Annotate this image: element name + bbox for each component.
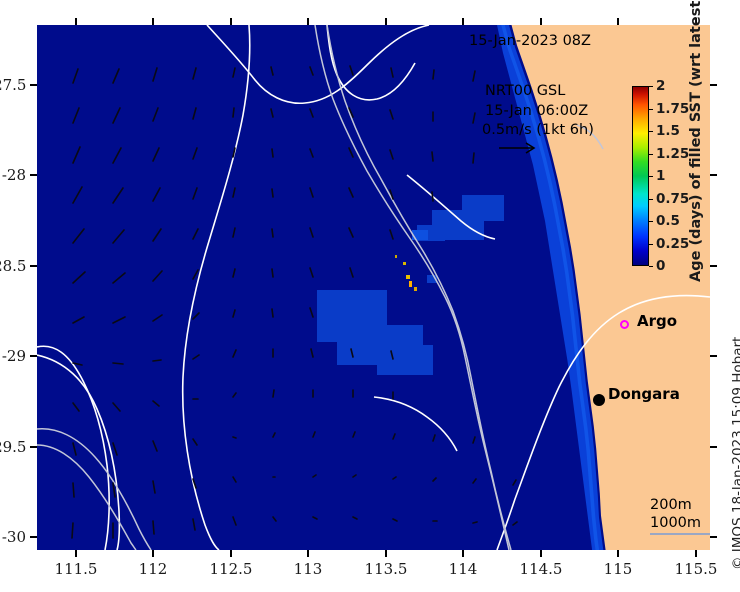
map-plot-area[interactable]: Argo Dongara 15-Jan-2023 08Z NRT00 GSL 1…	[37, 25, 710, 550]
xtick-label: 113	[294, 560, 323, 578]
current-annotation-line1: NRT00 GSL	[485, 82, 565, 101]
xtick-top	[152, 18, 154, 25]
colorbar-tick	[649, 266, 653, 267]
colorbar[interactable]: 2 1.75 1.5 1.25 1 0.75 0.5 0.25 0	[632, 86, 649, 266]
ytick-label: -29	[0, 347, 26, 365]
colorbar-tick-label: 0	[656, 258, 665, 274]
colorbar-title: Age (days) of filled SST (wrt latest)	[688, 0, 704, 282]
xtick-label: 114.5	[520, 560, 563, 578]
colorbar-tick-label: 0.25	[656, 236, 689, 252]
ytick-right	[710, 84, 717, 86]
xtick-bottom	[75, 550, 77, 557]
dongara-label: Dongara	[608, 385, 680, 403]
xtick-label: 112	[139, 560, 168, 578]
depth-deep-label: 1000m	[650, 514, 710, 532]
xtick-bottom	[540, 550, 542, 557]
xtick-bottom	[695, 550, 697, 557]
depth-shallow-label: 200m	[650, 496, 710, 514]
colorbar-tick-label: 0.5	[656, 213, 680, 229]
ytick-label: -28.5	[0, 257, 26, 275]
ytick-left	[30, 84, 37, 86]
ytick-right	[710, 446, 717, 448]
xtick-bottom	[230, 550, 232, 557]
colorbar-tick	[649, 199, 653, 200]
xtick-label: 115	[604, 560, 633, 578]
xtick-label: 112.5	[210, 560, 253, 578]
ytick-left	[30, 174, 37, 176]
credit-text: © IMOS 18-Jan-2023 15:09 Hobart	[730, 337, 740, 570]
current-annotation-line2: 15-Jan 06:00Z	[485, 102, 588, 121]
xtick-top	[385, 18, 387, 25]
xtick-bottom	[385, 550, 387, 557]
xtick-bottom	[617, 550, 619, 557]
ytick-left	[30, 536, 37, 538]
map-timestamp: 15-Jan-2023 08Z	[469, 32, 591, 51]
colorbar-tick-label: 1.25	[656, 146, 689, 162]
ytick-left	[30, 446, 37, 448]
xtick-top	[75, 18, 77, 25]
dongara-town-marker[interactable]	[593, 394, 605, 406]
ytick-right	[710, 174, 717, 176]
depth-scale-legend: 200m 1000m	[650, 496, 710, 535]
current-vector-field	[72, 66, 517, 538]
colorbar-tick	[649, 109, 653, 110]
ytick-left	[30, 355, 37, 357]
sst-contour-lines	[37, 25, 710, 550]
colorbar-tick-label: 2	[656, 78, 665, 94]
argo-float-marker[interactable]	[620, 320, 629, 329]
current-reference-arrow	[497, 141, 541, 155]
xtick-top	[540, 18, 542, 25]
xtick-label: 114	[449, 560, 478, 578]
xtick-bottom	[307, 550, 309, 557]
xtick-top	[462, 18, 464, 25]
depth-scale-rule	[650, 533, 710, 535]
overlay-contours	[37, 25, 710, 550]
xtick-top	[230, 18, 232, 25]
colorbar-tick-label: 1.75	[656, 101, 689, 117]
ytick-right	[710, 536, 717, 538]
colorbar-tick	[649, 86, 653, 87]
ytick-right	[710, 355, 717, 357]
ytick-label: -30	[0, 528, 26, 546]
xtick-bottom	[152, 550, 154, 557]
ytick-label: -27.5	[0, 76, 26, 94]
xtick-label: 111.5	[55, 560, 98, 578]
xtick-label: 115.5	[675, 560, 718, 578]
colorbar-tick-label: 0.75	[656, 191, 689, 207]
xtick-top	[617, 18, 619, 25]
argo-label: Argo	[637, 312, 677, 330]
ytick-label: -29.5	[0, 438, 26, 456]
colorbar-tick-label: 1.5	[656, 123, 680, 139]
colorbar-tick	[649, 131, 653, 132]
xtick-label: 113.5	[365, 560, 408, 578]
ytick-right	[710, 265, 717, 267]
colorbar-tick	[649, 244, 653, 245]
current-annotation-line3: 0.5m/s (1kt 6h)	[482, 121, 594, 140]
colorbar-tick	[649, 176, 653, 177]
figure-root: Argo Dongara 15-Jan-2023 08Z NRT00 GSL 1…	[0, 0, 740, 592]
xtick-top	[307, 18, 309, 25]
colorbar-gradient	[632, 86, 649, 266]
ytick-left	[30, 265, 37, 267]
colorbar-tick-label: 1	[656, 168, 665, 184]
colorbar-tick	[649, 154, 653, 155]
colorbar-tick	[649, 221, 653, 222]
ytick-label: -28	[0, 166, 26, 184]
xtick-bottom	[462, 550, 464, 557]
